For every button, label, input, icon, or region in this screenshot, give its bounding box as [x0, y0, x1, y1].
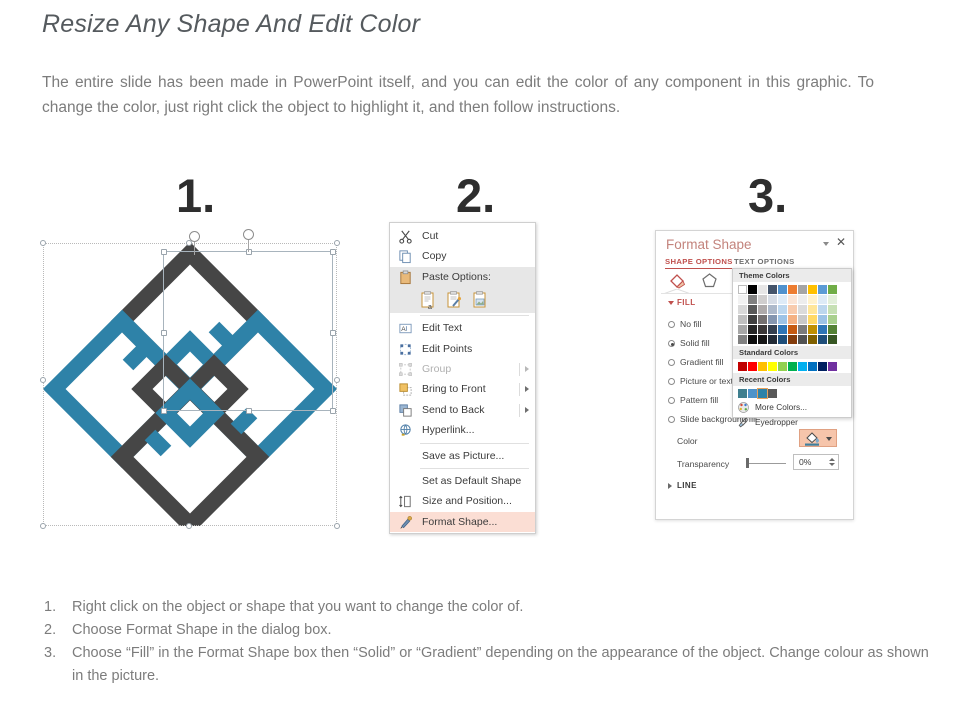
standard-color-swatch-7[interactable]: [808, 362, 817, 371]
edit-text-icon: A: [398, 321, 413, 336]
theme-color-variant-2-8[interactable]: [818, 315, 827, 324]
theme-color-variant-0-2[interactable]: [758, 295, 767, 304]
color-label: Color: [677, 436, 698, 446]
theme-colors-label: Theme Colors: [733, 269, 851, 282]
theme-color-variant-3-2[interactable]: [758, 325, 767, 334]
theme-color-variant-4-3[interactable]: [768, 335, 777, 344]
theme-color-variant-4-5[interactable]: [788, 335, 797, 344]
theme-color-variant-3-7[interactable]: [808, 325, 817, 334]
theme-color-variant-2-4[interactable]: [778, 315, 787, 324]
tab-shape-options[interactable]: SHAPE OPTIONS: [665, 257, 733, 266]
theme-color-variant-4-2[interactable]: [758, 335, 767, 344]
menu-item-group: Group: [390, 359, 535, 379]
line-section-label: LINE: [677, 481, 697, 490]
theme-color-variant-0-8[interactable]: [818, 295, 827, 304]
copy-icon: [398, 249, 413, 264]
menu-item-label: Paste Options:: [422, 271, 491, 283]
submenu-arrow-icon: [525, 366, 529, 372]
theme-color-swatch-5[interactable]: [788, 285, 797, 294]
menu-separator: [420, 315, 529, 316]
theme-color-variant-1-0[interactable]: [738, 305, 747, 314]
theme-color-variant-3-5[interactable]: [788, 325, 797, 334]
theme-color-variant-0-1[interactable]: [748, 295, 757, 304]
effects-icon[interactable]: [700, 272, 719, 289]
menu-item-label: Save as Picture...: [422, 450, 504, 462]
paint-bucket-icon: [804, 432, 820, 446]
theme-colors-grid[interactable]: [733, 282, 851, 346]
theme-color-variant-1-4[interactable]: [778, 305, 787, 314]
menu-item-hyperlink[interactable]: Hyperlink...: [390, 420, 535, 440]
scissors-icon: [398, 229, 413, 244]
tab-text-options[interactable]: TEXT OPTIONS: [734, 257, 795, 266]
inner-handle-n[interactable]: [246, 249, 252, 255]
hyperlink-icon: [398, 423, 413, 438]
recent-color-swatch-2[interactable]: [758, 389, 767, 398]
recent-colors-grid[interactable]: [733, 386, 851, 400]
paste-use-destination-theme-icon[interactable]: [446, 291, 463, 310]
chevron-down-icon[interactable]: [823, 242, 829, 246]
shape-illustration: [43, 231, 337, 526]
theme-color-variant-4-4[interactable]: [778, 335, 787, 344]
theme-color-variant-2-0[interactable]: [738, 315, 747, 324]
palette-icon: [738, 402, 749, 413]
menu-item-paste-options: Paste Options:: [390, 267, 535, 287]
radio-indicator: [668, 378, 675, 385]
bring-to-front-icon: [398, 382, 413, 397]
theme-color-variant-0-0[interactable]: [738, 295, 747, 304]
rotation-handle-1[interactable]: [189, 231, 200, 242]
instruction-text: Choose Format Shape in the dialog box.: [72, 622, 332, 638]
expand-triangle-icon[interactable]: [668, 301, 674, 305]
resize-handle-s[interactable]: [186, 523, 192, 529]
theme-color-variant-3-0[interactable]: [738, 325, 747, 334]
menu-item-label: Send to Back: [422, 404, 484, 416]
theme-color-variant-4-1[interactable]: [748, 335, 757, 344]
transparency-label: Transparency: [677, 459, 729, 469]
recent-color-swatch-3[interactable]: [768, 389, 777, 398]
radio-indicator: [668, 416, 675, 423]
theme-color-swatch-8[interactable]: [818, 285, 827, 294]
theme-color-swatch-1[interactable]: [748, 285, 757, 294]
svg-text:A: A: [401, 326, 406, 333]
radio-indicator: [668, 359, 675, 366]
paste-options-row[interactable]: a: [390, 287, 535, 313]
inner-handle-s[interactable]: [246, 408, 252, 414]
standard-color-swatch-6[interactable]: [798, 362, 807, 371]
send-to-back-icon: [398, 403, 413, 418]
theme-color-variant-1-1[interactable]: [748, 305, 757, 314]
menu-item-format-shape[interactable]: Format Shape...: [390, 512, 535, 532]
svg-text:a: a: [428, 304, 432, 310]
menu-item-label: Hyperlink...: [422, 424, 475, 436]
menu-item-set-as-default-shape[interactable]: Set as Default Shape: [390, 471, 535, 491]
radio-label: Gradient fill: [680, 357, 723, 367]
more-colors-item[interactable]: More Colors...: [733, 400, 851, 415]
theme-color-variant-3-6[interactable]: [798, 325, 807, 334]
rotation-handle-2[interactable]: [243, 229, 254, 240]
eyedropper-icon: [738, 417, 749, 428]
standard-color-swatch-9[interactable]: [828, 362, 837, 371]
theme-color-variant-0-3[interactable]: [768, 295, 777, 304]
instruction-text: Choose “Fill” in the Format Shape box th…: [72, 645, 929, 684]
color-picker-dropdown[interactable]: Theme Colors Standard Colors Recent Colo…: [732, 268, 852, 418]
theme-color-variant-1-6[interactable]: [798, 305, 807, 314]
menu-item-label: Copy: [422, 250, 447, 262]
instruction-item: 2. Choose Format Shape in the dialog box…: [40, 619, 940, 642]
standard-color-swatch-3[interactable]: [768, 362, 777, 371]
instruction-number: 2.: [44, 619, 56, 642]
rotation-stem-2: [248, 239, 249, 252]
paste-keep-source-formatting-icon[interactable]: a: [420, 291, 437, 310]
radio-gradient-fill[interactable]: Gradient fill: [680, 357, 723, 367]
theme-color-swatch-7[interactable]: [808, 285, 817, 294]
transparency-slider-thumb[interactable]: [746, 458, 749, 468]
chevron-down-icon: [826, 437, 832, 441]
menu-item-label: Cut: [422, 230, 438, 242]
standard-color-swatch-4[interactable]: [778, 362, 787, 371]
step-number-3: 3.: [748, 172, 787, 219]
standard-color-swatch-1[interactable]: [748, 362, 757, 371]
resize-handle-sw[interactable]: [40, 523, 46, 529]
radio-label: Pattern fill: [680, 395, 718, 405]
transparency-value-field[interactable]: 0%: [793, 454, 839, 470]
resize-handle-e[interactable]: [334, 377, 340, 383]
radio-indicator: [668, 340, 675, 347]
theme-color-variant-2-1[interactable]: [748, 315, 757, 324]
theme-color-variant-4-7[interactable]: [808, 335, 817, 344]
spinner-down-icon[interactable]: [829, 463, 835, 466]
menu-item-label: Group: [422, 363, 451, 375]
menu-item-label: Edit Text: [422, 322, 462, 334]
theme-color-variant-0-5[interactable]: [788, 295, 797, 304]
menu-divider-line: [519, 363, 520, 376]
inner-handle-se[interactable]: [330, 408, 336, 414]
radio-indicator: [668, 321, 675, 328]
menu-item-copy[interactable]: Copy: [390, 246, 535, 266]
theme-color-swatch-2[interactable]: [758, 285, 767, 294]
instruction-number: 3.: [44, 642, 56, 665]
instruction-item: 3. Choose “Fill” in the Format Shape box…: [40, 642, 940, 688]
menu-divider-line: [519, 383, 520, 396]
instruction-text: Right click on the object or shape that …: [72, 599, 523, 615]
theme-color-variant-3-1[interactable]: [748, 325, 757, 334]
color-picker-button[interactable]: [799, 429, 837, 447]
step-number-1: 1.: [176, 172, 215, 219]
menu-separator: [420, 443, 529, 444]
size-position-icon: [398, 494, 413, 509]
radio-indicator: [668, 397, 675, 404]
eyedropper-item[interactable]: Eyedropper: [733, 415, 851, 430]
edit-points-icon: [398, 342, 413, 357]
theme-color-variant-3-3[interactable]: [768, 325, 777, 334]
radio-solid-fill[interactable]: Solid fill: [680, 338, 710, 348]
radio-label: Solid fill: [680, 338, 710, 348]
radio-no-fill[interactable]: No fill: [680, 319, 702, 329]
transparency-slider-track[interactable]: [748, 463, 786, 464]
inner-handle-nw[interactable]: [161, 249, 167, 255]
close-icon[interactable]: ✕: [836, 236, 846, 248]
theme-color-variant-2-7[interactable]: [808, 315, 817, 324]
theme-color-variant-1-3[interactable]: [768, 305, 777, 314]
standard-color-swatch-8[interactable]: [818, 362, 827, 371]
resize-handle-nw[interactable]: [40, 240, 46, 246]
theme-color-variant-0-4[interactable]: [778, 295, 787, 304]
transparency-value: 0%: [799, 457, 811, 467]
menu-item-label: Set as Default Shape: [422, 475, 521, 487]
inner-handle-ne[interactable]: [330, 249, 336, 255]
paste-picture-icon[interactable]: [472, 291, 489, 310]
eyedropper-label: Eyedropper: [755, 417, 798, 427]
recent-color-swatch-1[interactable]: [748, 389, 757, 398]
radio-pattern-fill[interactable]: Pattern fill: [680, 395, 718, 405]
menu-divider-line: [519, 404, 520, 417]
theme-color-variant-2-6[interactable]: [798, 315, 807, 324]
submenu-arrow-icon: [525, 407, 529, 413]
step-number-2: 2.: [456, 172, 495, 219]
spinner-up-icon[interactable]: [829, 458, 835, 461]
inner-handle-sw[interactable]: [161, 408, 167, 414]
resize-handle-w[interactable]: [40, 377, 46, 383]
theme-color-variant-4-6[interactable]: [798, 335, 807, 344]
rotation-stem-1: [194, 242, 195, 255]
context-menu[interactable]: Cut Copy Paste Options: a: [389, 222, 536, 534]
clipboard-icon: [398, 270, 413, 285]
format-pane-title: Format Shape: [666, 237, 752, 252]
theme-color-variant-2-3[interactable]: [768, 315, 777, 324]
instruction-number: 1.: [44, 596, 56, 619]
theme-color-variant-2-5[interactable]: [788, 315, 797, 324]
theme-color-variant-3-8[interactable]: [818, 325, 827, 334]
collapse-triangle-icon[interactable]: [668, 483, 672, 489]
group-icon: [398, 362, 413, 377]
theme-color-variant-3-4[interactable]: [778, 325, 787, 334]
theme-color-swatch-6[interactable]: [798, 285, 807, 294]
theme-color-variant-4-0[interactable]: [738, 335, 747, 344]
menu-item-label: Size and Position...: [422, 495, 512, 507]
theme-color-variant-2-2[interactable]: [758, 315, 767, 324]
page-title: Resize Any Shape And Edit Color: [42, 10, 420, 39]
menu-item-cut[interactable]: Cut: [390, 226, 535, 246]
menu-item-size-and-position[interactable]: Size and Position...: [390, 491, 535, 511]
theme-color-variant-3-9[interactable]: [828, 325, 837, 334]
menu-item-send-to-back[interactable]: Send to Back: [390, 400, 535, 420]
standard-color-swatch-2[interactable]: [758, 362, 767, 371]
recent-colors-label: Recent Colors: [733, 373, 851, 386]
theme-color-swatch-4[interactable]: [778, 285, 787, 294]
menu-item-label: Bring to Front: [422, 383, 486, 395]
standard-colors-label: Standard Colors: [733, 346, 851, 359]
theme-color-variant-0-6[interactable]: [798, 295, 807, 304]
theme-color-variant-1-5[interactable]: [788, 305, 797, 314]
page-subtitle: The entire slide has been made in PowerP…: [42, 70, 874, 120]
theme-color-variant-1-8[interactable]: [818, 305, 827, 314]
instruction-item: 1. Right click on the object or shape th…: [40, 596, 940, 619]
recent-color-swatch-0[interactable]: [738, 389, 747, 398]
theme-color-variant-2-9[interactable]: [828, 315, 837, 324]
menu-item-edit-points[interactable]: Edit Points: [390, 339, 535, 359]
theme-color-variant-0-9[interactable]: [828, 295, 837, 304]
theme-color-variant-1-7[interactable]: [808, 305, 817, 314]
theme-color-variant-1-9[interactable]: [828, 305, 837, 314]
fill-and-line-icon[interactable]: [668, 272, 687, 289]
theme-color-variant-0-7[interactable]: [808, 295, 817, 304]
standard-colors-grid[interactable]: [733, 359, 851, 373]
menu-item-bring-to-front[interactable]: Bring to Front: [390, 379, 535, 399]
standard-color-swatch-0[interactable]: [738, 362, 747, 371]
more-colors-label: More Colors...: [755, 402, 807, 412]
instructions-list: 1. Right click on the object or shape th…: [40, 596, 940, 688]
theme-color-swatch-0[interactable]: [738, 285, 747, 294]
menu-item-label: Edit Points: [422, 343, 472, 355]
resize-handle-se[interactable]: [334, 523, 340, 529]
menu-separator: [420, 468, 529, 469]
theme-color-variant-4-9[interactable]: [828, 335, 837, 344]
fill-section-label: FILL: [677, 298, 695, 307]
theme-color-variant-4-8[interactable]: [818, 335, 827, 344]
menu-item-save-as-picture[interactable]: Save as Picture...: [390, 446, 535, 466]
resize-handle-ne[interactable]: [334, 240, 340, 246]
theme-color-swatch-9[interactable]: [828, 285, 837, 294]
radio-label: No fill: [680, 319, 702, 329]
menu-item-label: Format Shape...: [422, 516, 497, 528]
submenu-arrow-icon: [525, 386, 529, 392]
selection-bounding-box-inner: [163, 251, 333, 411]
standard-color-swatch-5[interactable]: [788, 362, 797, 371]
menu-item-edit-text[interactable]: A Edit Text: [390, 318, 535, 338]
inner-handle-w[interactable]: [161, 330, 167, 336]
format-shape-icon: [398, 515, 413, 530]
theme-color-variant-1-2[interactable]: [758, 305, 767, 314]
inner-handle-e[interactable]: [330, 330, 336, 336]
theme-color-swatch-3[interactable]: [768, 285, 777, 294]
